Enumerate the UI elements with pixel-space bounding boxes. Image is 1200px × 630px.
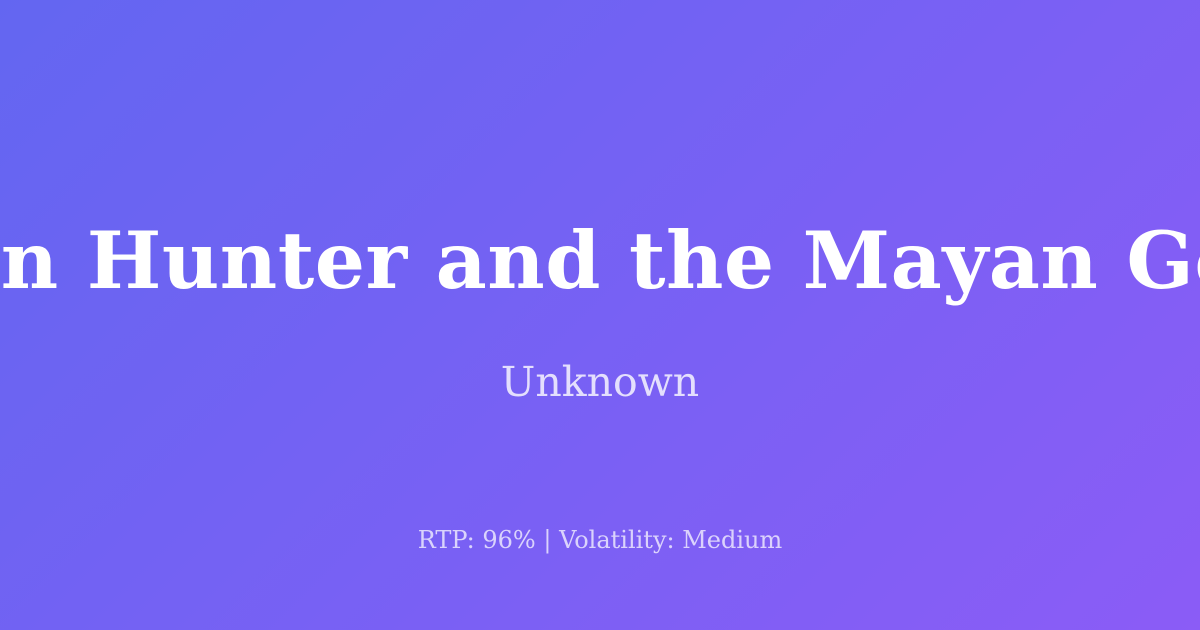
meta-rtp: RTP: 96% | Volatility: Medium [418, 526, 783, 554]
title-row: John Hunter and the Mayan Gods [0, 0, 1200, 330]
game-preview-card: John Hunter and the Mayan Gods Unknown R… [0, 0, 1200, 630]
game-provider: Unknown [0, 362, 1200, 403]
page-title: John Hunter and the Mayan Gods [0, 221, 1200, 300]
game-meta-line: RTP: 96% | Volatility: Medium [0, 528, 1200, 552]
